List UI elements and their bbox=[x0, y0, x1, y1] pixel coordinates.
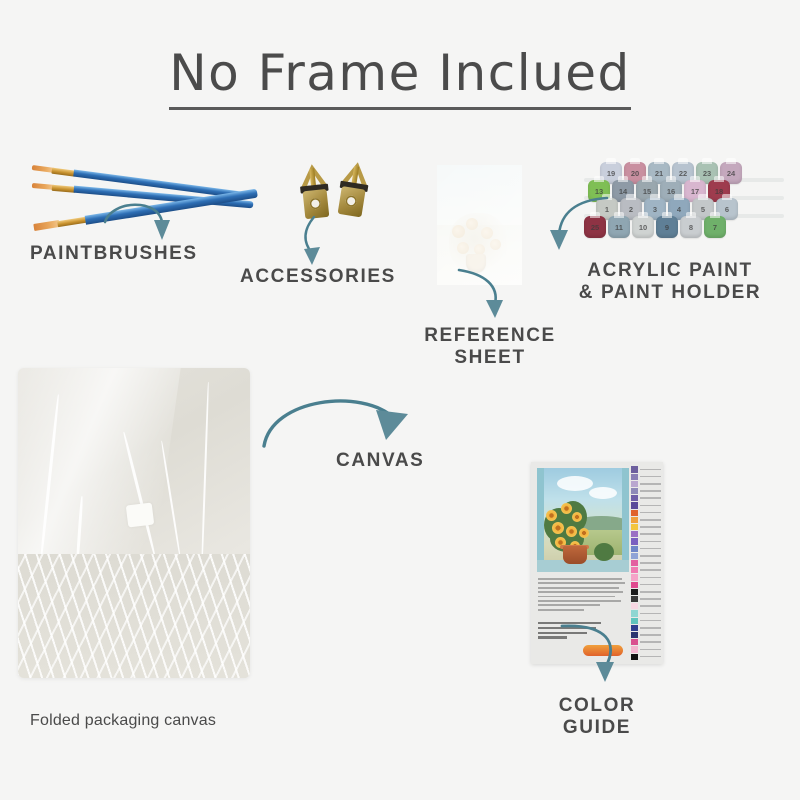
guide-swatch-row bbox=[631, 581, 661, 588]
paint-pot-cap bbox=[726, 158, 736, 164]
guide-swatch-row bbox=[631, 596, 661, 603]
label-paintbrushes: PAINTBRUSHES bbox=[30, 243, 230, 265]
paint-pot-cap bbox=[678, 158, 688, 164]
guide-swatch bbox=[631, 481, 638, 487]
guide-swatch-caption bbox=[640, 584, 661, 586]
guide-swatch bbox=[631, 524, 638, 530]
paint-pot-cap bbox=[626, 194, 636, 200]
guide-swatch bbox=[631, 560, 638, 566]
paint-pot-number: 7 bbox=[713, 223, 717, 232]
guide-swatch bbox=[631, 553, 638, 559]
brush-ferrule bbox=[52, 184, 76, 192]
painting-cloud bbox=[589, 487, 617, 499]
label-canvas: CANVAS bbox=[336, 450, 496, 472]
brush-bristle bbox=[33, 220, 60, 231]
paint-pot-number: 6 bbox=[725, 205, 729, 214]
canvas-package-icon bbox=[18, 368, 250, 678]
guide-text-line bbox=[538, 609, 584, 611]
paint-pot-number: 22 bbox=[679, 169, 687, 178]
guide-swatch bbox=[631, 574, 638, 580]
guide-swatch-caption bbox=[640, 598, 661, 600]
paint-pot-cap bbox=[674, 194, 684, 200]
guide-instructions-text bbox=[538, 578, 626, 613]
guide-swatch-caption bbox=[640, 526, 661, 528]
paint-pot-cap bbox=[618, 176, 628, 182]
guide-text-line bbox=[538, 587, 619, 589]
guide-swatch-caption bbox=[640, 613, 661, 615]
guide-swatch-caption bbox=[640, 490, 661, 492]
guide-swatch bbox=[631, 474, 638, 480]
guide-swatch bbox=[631, 567, 638, 573]
guide-swatch-row bbox=[631, 552, 661, 559]
guide-swatch-row bbox=[631, 567, 661, 574]
guide-swatch bbox=[631, 603, 638, 609]
guide-swatch bbox=[631, 589, 638, 595]
page-title-wrap: No Frame Inclued bbox=[0, 44, 800, 110]
guide-text-line bbox=[538, 591, 623, 593]
guide-swatch-caption bbox=[640, 469, 661, 471]
guide-swatch-row bbox=[631, 509, 661, 516]
guide-swatch-caption bbox=[640, 541, 661, 543]
guide-swatch bbox=[631, 517, 638, 523]
paint-pot-number: 11 bbox=[615, 223, 623, 232]
paint-pot-cap bbox=[690, 176, 700, 182]
canvas-label-tag bbox=[126, 503, 154, 528]
label-folded-canvas-caption: Folded packaging canvas bbox=[30, 712, 280, 731]
label-color-guide: COLOR GUIDE bbox=[532, 695, 662, 740]
guide-swatch bbox=[631, 502, 638, 508]
paint-pot-cap bbox=[686, 212, 696, 218]
guide-swatch-row bbox=[631, 466, 661, 473]
arrow-to-canvas bbox=[258, 388, 438, 458]
paint-pot-number: 23 bbox=[703, 169, 711, 178]
guide-swatch bbox=[631, 466, 638, 472]
paint-pot-cap bbox=[614, 212, 624, 218]
painting-sunflower bbox=[572, 512, 582, 522]
paint-pot-number: 8 bbox=[689, 223, 693, 232]
paint-pot-cap bbox=[722, 194, 732, 200]
guide-swatch bbox=[631, 510, 638, 516]
painting-pot bbox=[563, 546, 587, 564]
guide-swatch-row bbox=[631, 545, 661, 552]
paint-pot: 7 bbox=[704, 216, 726, 238]
paint-pot-cap bbox=[594, 176, 604, 182]
arrow-to-acrylic-paint bbox=[545, 192, 615, 264]
paint-pot-cap bbox=[662, 212, 672, 218]
guide-swatch-caption bbox=[640, 569, 661, 571]
paint-pot-cap bbox=[698, 194, 708, 200]
label-accessories: ACCESSORIES bbox=[240, 266, 420, 288]
refsheet-glare bbox=[437, 165, 522, 285]
paint-pot-number: 4 bbox=[677, 205, 681, 214]
guide-swatch bbox=[631, 531, 638, 537]
paint-pot-cap bbox=[638, 212, 648, 218]
guide-swatch-row bbox=[631, 603, 661, 610]
paint-pot-cap bbox=[606, 158, 616, 164]
paint-pot-number: 2 bbox=[629, 205, 633, 214]
guide-swatch-row bbox=[631, 574, 661, 581]
paint-pot-cap bbox=[654, 158, 664, 164]
guide-swatch-row bbox=[631, 495, 661, 502]
guide-swatch-caption bbox=[640, 512, 661, 514]
guide-swatch-caption bbox=[640, 476, 661, 478]
guide-swatch bbox=[631, 582, 638, 588]
guide-swatch bbox=[631, 596, 638, 602]
paint-pot-cap bbox=[642, 176, 652, 182]
guide-swatch bbox=[631, 488, 638, 494]
guide-swatch-row bbox=[631, 531, 661, 538]
page-title: No Frame Inclued bbox=[169, 44, 631, 110]
label-reference-sheet: REFERENCE SHEET bbox=[400, 325, 580, 370]
guide-swatch-row bbox=[631, 488, 661, 495]
guide-swatch-row bbox=[631, 502, 661, 509]
paint-pot: 9 bbox=[656, 216, 678, 238]
guide-text-line bbox=[538, 582, 625, 584]
guide-swatch bbox=[631, 538, 638, 544]
guide-swatch-row bbox=[631, 610, 661, 617]
paint-pot-number: 9 bbox=[665, 223, 669, 232]
guide-text-line bbox=[538, 578, 622, 580]
guide-swatch-caption bbox=[640, 519, 661, 521]
painting-window-frame-left bbox=[537, 468, 544, 572]
paint-pot-number: 10 bbox=[639, 223, 647, 232]
guide-swatch-row bbox=[631, 560, 661, 567]
guide-swatch-row bbox=[631, 473, 661, 480]
guide-swatch bbox=[631, 495, 638, 501]
guide-swatch-caption bbox=[640, 555, 661, 557]
paint-pot-number: 20 bbox=[631, 169, 639, 178]
plastic-crease bbox=[161, 441, 182, 560]
guide-swatch-caption bbox=[640, 483, 661, 485]
arrow-to-color-guide bbox=[556, 622, 646, 694]
infographic-root: No Frame Inclued bbox=[0, 0, 800, 800]
arrow-to-reference-sheet bbox=[455, 268, 525, 328]
plastic-crease bbox=[201, 382, 210, 572]
guide-text-line bbox=[538, 604, 600, 606]
paint-pot-number: 24 bbox=[727, 169, 735, 178]
guide-painting bbox=[537, 468, 629, 572]
paint-pot-cap bbox=[710, 212, 720, 218]
painting-sunflower bbox=[552, 522, 564, 534]
label-acrylic-paint: ACRYLIC PAINT & PAINT HOLDER bbox=[550, 260, 790, 305]
painting-sunflower bbox=[546, 510, 557, 521]
guide-swatch-caption bbox=[640, 605, 661, 607]
guide-swatch-row bbox=[631, 524, 661, 531]
painting-foliage bbox=[594, 543, 614, 561]
paint-pot-cap bbox=[666, 176, 676, 182]
paint-pot: 10 bbox=[632, 216, 654, 238]
guide-swatch-row bbox=[631, 538, 661, 545]
guide-text-line bbox=[538, 596, 615, 598]
painting-cloud bbox=[557, 476, 593, 491]
plastic-crinkle-zone bbox=[18, 554, 250, 678]
guide-swatch-caption bbox=[640, 497, 661, 499]
paint-pot-cap bbox=[650, 194, 660, 200]
guide-swatch-row bbox=[631, 516, 661, 523]
paint-pot: 8 bbox=[680, 216, 702, 238]
guide-swatch-row bbox=[631, 588, 661, 595]
guide-swatch-caption bbox=[640, 533, 661, 535]
paint-pot-cap bbox=[702, 158, 712, 164]
guide-swatch-caption bbox=[640, 562, 661, 564]
guide-swatch bbox=[631, 610, 638, 616]
guide-swatch-caption bbox=[640, 548, 661, 550]
paint-pot-number: 19 bbox=[607, 169, 615, 178]
paint-pot-cap bbox=[630, 158, 640, 164]
painting-window-frame-right bbox=[622, 468, 629, 572]
paint-pot-number: 21 bbox=[655, 169, 663, 178]
guide-swatch bbox=[631, 546, 638, 552]
paint-pot-cap bbox=[714, 176, 724, 182]
paint-pot-number: 3 bbox=[653, 205, 657, 214]
arrow-to-paintbrushes bbox=[100, 188, 190, 248]
guide-text-line bbox=[538, 600, 621, 602]
guide-swatch-row bbox=[631, 480, 661, 487]
paint-pot-number: 5 bbox=[701, 205, 705, 214]
guide-swatch-caption bbox=[640, 505, 661, 507]
guide-swatch-caption bbox=[640, 577, 661, 579]
brush-ferrule bbox=[57, 216, 88, 227]
reference-sheet-icon bbox=[437, 165, 522, 285]
guide-swatch-caption bbox=[640, 591, 661, 593]
